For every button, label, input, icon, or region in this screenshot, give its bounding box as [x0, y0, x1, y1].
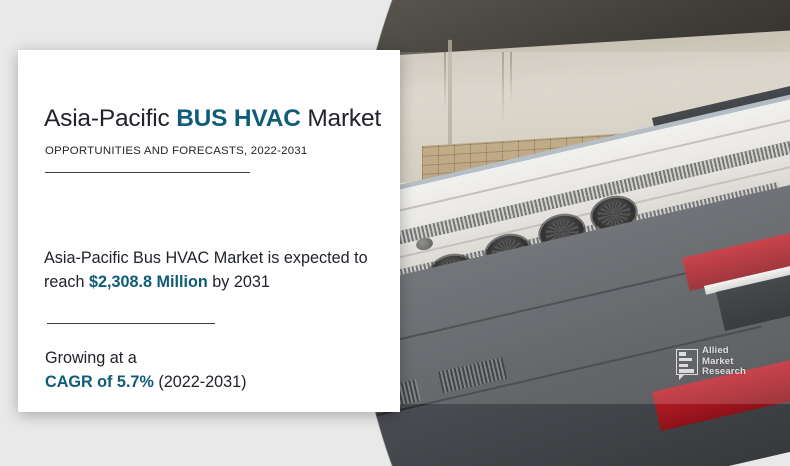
market-value-statement: Asia-Pacific Bus HVAC Market is expected… — [44, 246, 394, 294]
stat-value: $2,308.8 Million — [89, 273, 208, 291]
logo-bar — [679, 358, 692, 361]
divider-top — [45, 172, 250, 173]
logo-bar — [679, 364, 688, 367]
title-suffix: Market — [301, 105, 381, 132]
cagr-value: CAGR of 5.7% — [45, 373, 154, 391]
photo-wall-streak — [444, 52, 446, 112]
bus-hvac-photo — [352, 0, 790, 466]
page-subtitle: OPPORTUNITIES AND FORECASTS, 2022-2031 — [45, 145, 308, 157]
divider-bottom — [47, 323, 215, 324]
photo-wall-streak — [502, 52, 504, 124]
logo-line-3: Research — [702, 367, 746, 378]
cagr-statement: Growing at a CAGR of 5.7% (2022-2031) — [45, 346, 385, 394]
logo-mark-icon — [676, 349, 698, 375]
logo-bar — [679, 369, 694, 372]
info-card: Asia-Pacific BUS HVAC Market OPPORTUNITI… — [18, 50, 400, 412]
logo-bar — [679, 352, 686, 355]
photo-wall-streak — [510, 52, 512, 104]
stat-suffix: by 2031 — [208, 273, 270, 291]
title-highlight: BUS HVAC — [176, 105, 301, 132]
logo-text: Allied Market Research — [702, 346, 746, 378]
cagr-period: (2022-2031) — [154, 373, 247, 391]
page-title: Asia-Pacific BUS HVAC Market — [44, 105, 404, 133]
title-prefix: Asia-Pacific — [44, 105, 176, 132]
allied-market-research-logo: Allied Market Research — [676, 340, 756, 384]
growth-line1: Growing at a — [45, 349, 137, 367]
